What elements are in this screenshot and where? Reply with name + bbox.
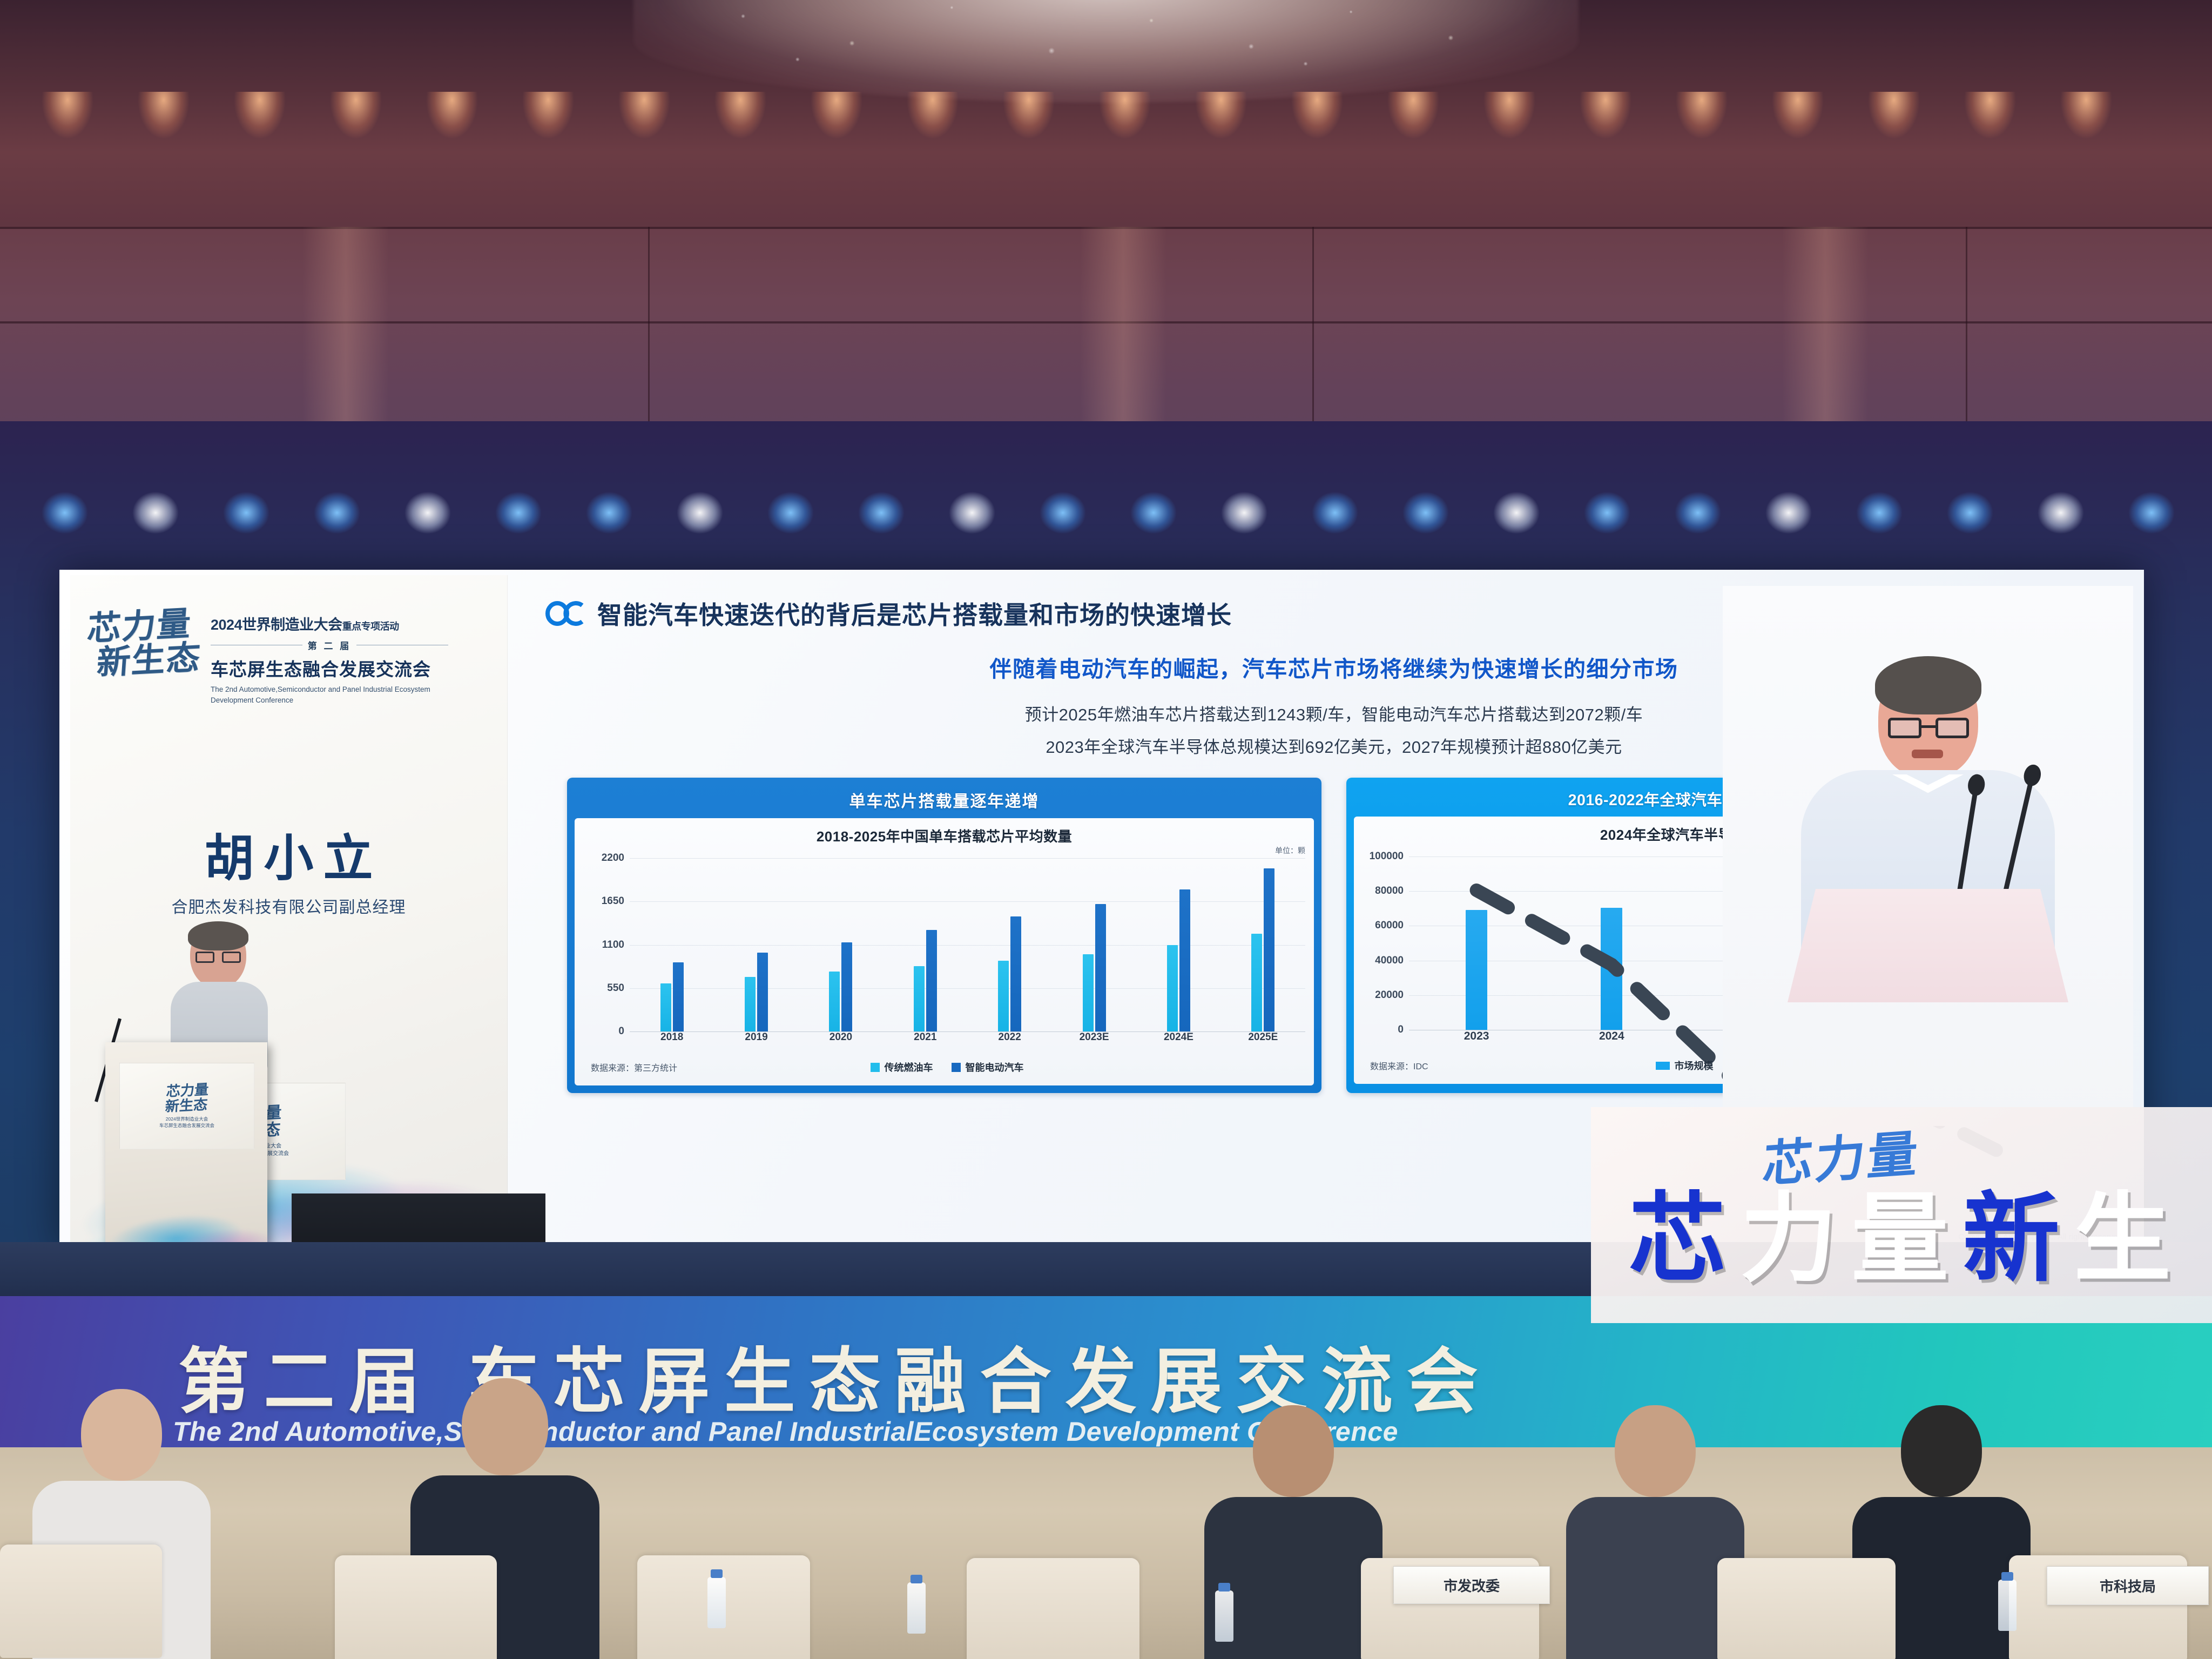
glasses-icon: [1888, 718, 1969, 739]
bar: [757, 953, 768, 1031]
audience-head: [1253, 1405, 1334, 1497]
bar: [1167, 945, 1178, 1032]
chart2-y-axis: 020000400006000080000100000: [1363, 857, 1408, 1030]
podium-badge-text: 2024世界制造业大会车芯屏生态融合发展交流会: [159, 1116, 214, 1129]
venue-background: 芯力量 新生态 2024世界制造业大会重点专项活动 第 二 届 车芯屏生态融合发…: [0, 0, 2212, 1659]
foreground-letter: 芯: [1629, 1191, 1726, 1288]
water-bottle: [707, 1577, 726, 1628]
chart1-card-title: 单车芯片搭载量逐年递增: [575, 784, 1314, 818]
water-bottle: [1215, 1590, 1233, 1642]
bar: [914, 966, 925, 1031]
oc-logo-icon: [545, 601, 585, 626]
chart1-title: 2018-2025年中国单车搭载芯片平均数量: [583, 826, 1305, 846]
y-tick-label: 0: [1398, 1024, 1404, 1036]
x-tick-label: 2023: [1409, 1030, 1544, 1044]
bar-group: [1052, 858, 1136, 1031]
desk-nameplate: 市发改委: [1393, 1566, 1550, 1604]
y-tick-label: 550: [607, 982, 624, 994]
bar-group: [883, 858, 967, 1031]
speaker-on-screen: [1801, 662, 2055, 997]
conference-brush-logo: 芯力量 新生态: [84, 605, 205, 680]
y-tick-label: 100000: [1370, 851, 1404, 862]
slide-title: 智能汽车快速迭代的背后是芯片搭载量和市场的快速增长: [597, 596, 1232, 631]
audience-chair: [0, 1545, 162, 1658]
speaker-job-title: 合肥杰发科技有限公司副总经理: [70, 894, 507, 918]
conference-english: The 2nd Automotive,Semiconductor and Pan…: [211, 684, 448, 705]
bar: [1251, 934, 1262, 1031]
brush-line-2: 新生态: [96, 640, 202, 680]
bar: [1179, 889, 1190, 1031]
bar-group: [1409, 857, 1544, 1030]
chart1-canvas: 0550110016502200 20182019202020212022202…: [583, 858, 1305, 1046]
audience-area: 市发改委市科技局: [0, 1285, 2212, 1659]
bar-group: [1136, 858, 1220, 1031]
water-bottle: [1998, 1580, 2017, 1631]
audience-chair: [335, 1555, 497, 1659]
conference-line-1: 2024世界制造业大会重点专项活动: [211, 613, 448, 634]
x-tick-label: 2021: [883, 1031, 967, 1046]
chart1-footer: 数据来源：第三方统计 传统燃油车 智能电动汽车: [591, 1061, 1303, 1074]
water-bottle: [907, 1582, 926, 1634]
bar: [745, 977, 756, 1031]
bar: [1010, 916, 1021, 1031]
bar: [660, 983, 671, 1031]
conference-line-2: 车芯屏生态融合发展交流会: [211, 655, 448, 681]
desk-nameplate: 市科技局: [2047, 1566, 2209, 1605]
live-speaker-hair: [188, 921, 248, 950]
legend-item-fuel: 传统燃油车: [871, 1060, 933, 1074]
conference-title-block: 2024世界制造业大会重点专项活动 第 二 届 车芯屏生态融合发展交流会 The…: [211, 609, 448, 705]
bar: [1083, 954, 1094, 1031]
x-tick-label: 2024: [1544, 1030, 1679, 1044]
x-tick-label: 2019: [714, 1031, 798, 1046]
stage-spotlights: [0, 486, 2212, 551]
y-tick-label: 1650: [602, 895, 624, 907]
speaker-mouth: [1912, 750, 1943, 758]
bar-group: [968, 858, 1052, 1031]
foreground-letter: 力: [1740, 1191, 1837, 1288]
speaker-name: 胡小立: [70, 818, 507, 890]
bar: [1095, 904, 1106, 1031]
bar: [841, 942, 852, 1031]
chart1-y-axis: 0550110016502200: [583, 858, 629, 1031]
x-tick-label: 2022: [968, 1031, 1052, 1046]
ceiling: [0, 0, 2212, 254]
podium-badge-brush: 芯力量新生态: [165, 1082, 209, 1115]
x-tick-label: 2020: [799, 1031, 883, 1046]
bar: [1466, 910, 1487, 1030]
live-speaker-glasses-icon: [195, 952, 241, 963]
bar: [1264, 868, 1274, 1031]
bar-group: [714, 858, 798, 1031]
chart1-unit-label: 单位：颗: [1275, 845, 1305, 856]
chart1-bars: [630, 858, 1305, 1031]
y-tick-label: 40000: [1375, 955, 1404, 967]
bar: [926, 930, 937, 1031]
audience-head: [462, 1378, 548, 1475]
foreground-letter: 生: [2074, 1191, 2171, 1288]
speaker-head: [1878, 662, 1978, 778]
bar: [673, 962, 684, 1031]
chart-card-chips-per-vehicle: 单车芯片搭载量逐年递增 2018-2025年中国单车搭载芯片平均数量 单位：颗 …: [567, 778, 1321, 1093]
y-tick-label: 1100: [602, 939, 624, 951]
edition-separator: 第 二 届: [211, 638, 448, 652]
legend-item-market-size: 市场规模: [1656, 1058, 1714, 1073]
audience-chair: [1717, 1558, 1896, 1659]
x-tick-label: 2018: [630, 1031, 714, 1046]
chandelier-crystals: [652, 0, 1560, 92]
bar-group: [630, 858, 714, 1031]
x-tick-label: 2023E: [1052, 1031, 1136, 1046]
edition-label: 第 二 届: [308, 638, 351, 652]
podium-badge: 芯力量新生态 2024世界制造业大会车芯屏生态融合发展交流会: [119, 1063, 254, 1149]
speaker-hair: [1875, 656, 1981, 714]
x-tick-label: 2024E: [1136, 1031, 1220, 1046]
y-tick-label: 20000: [1375, 989, 1404, 1001]
shirt-collar: [1892, 774, 1964, 810]
chart1-legend: 传统燃油车 智能电动汽车: [591, 1060, 1303, 1074]
bar-group: [799, 858, 883, 1031]
legend-item-ev: 智能电动汽车: [952, 1060, 1024, 1074]
speaker-video-feed: [1723, 586, 2133, 1126]
bar: [1601, 908, 1622, 1030]
bar-group: [1544, 857, 1679, 1030]
y-tick-label: 0: [618, 1026, 624, 1037]
y-tick-label: 2200: [602, 852, 624, 864]
y-tick-label: 60000: [1375, 920, 1404, 932]
chart1-x-axis: 201820192020202120222023E2024E2025E: [630, 1031, 1305, 1046]
chart1-plot-area: 2018-2025年中国单车搭载芯片平均数量 单位：颗 055011001650…: [575, 818, 1314, 1085]
audience-head: [81, 1389, 162, 1481]
foreground-letter: 新: [1963, 1191, 2060, 1288]
on-screen-podium: [1788, 889, 2068, 1002]
bar: [998, 961, 1009, 1031]
x-tick-label: 2025E: [1221, 1031, 1305, 1046]
foreground-letter: 量: [1851, 1191, 1948, 1288]
audience-head: [1901, 1405, 1982, 1497]
audience-head: [1615, 1405, 1696, 1497]
nameplate-header: 芯力量 新生态 2024世界制造业大会重点专项活动 第 二 届 车芯屏生态融合发…: [86, 609, 497, 705]
y-tick-label: 80000: [1375, 885, 1404, 897]
bar-group: [1221, 858, 1305, 1031]
audience-chair: [967, 1558, 1139, 1659]
bar: [829, 972, 840, 1031]
ceiling-lights: [0, 92, 2212, 173]
